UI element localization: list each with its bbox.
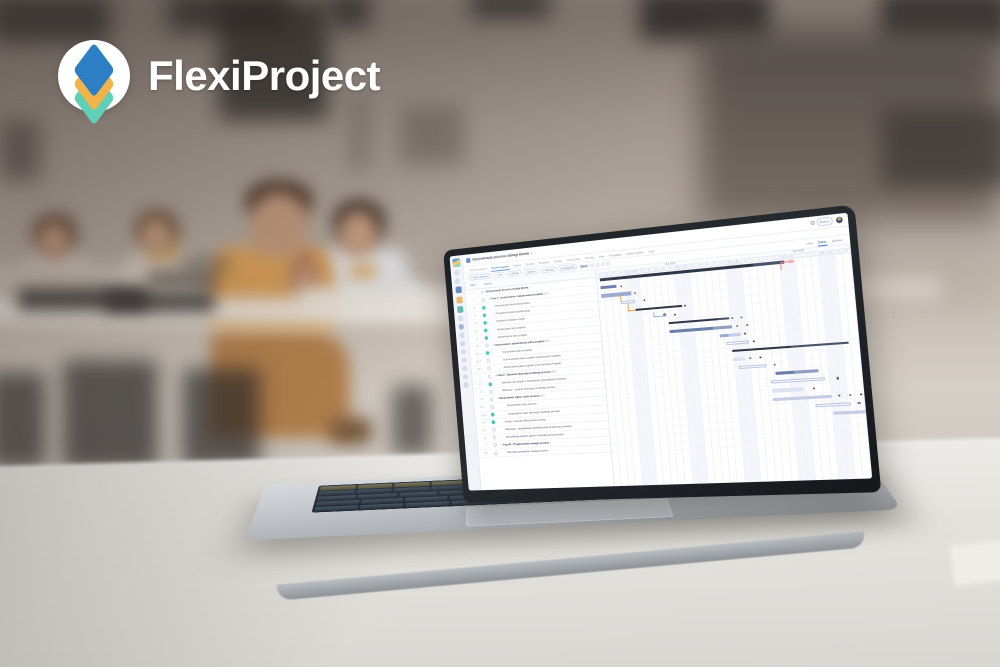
desk-item xyxy=(148,272,218,286)
flexiproject-app: Optymalizacja procesu obsługi klienta ▾ … xyxy=(450,213,873,491)
sidebar-item-projects[interactable] xyxy=(455,286,461,293)
gantt-bar-summary[interactable] xyxy=(668,317,728,325)
settings-button[interactable]: ✻ Ustawienia xyxy=(557,264,578,272)
wall-panel xyxy=(400,105,464,165)
row-wbs: 3.1 xyxy=(479,452,495,456)
zoom-out-icon[interactable] xyxy=(595,263,599,267)
avatar[interactable] xyxy=(751,339,756,344)
brand-lockup: FlexiProject xyxy=(58,40,380,112)
stacked-layers-icon xyxy=(58,40,130,112)
export-button[interactable]: ⤓ Eksport xyxy=(523,268,539,276)
sidebar-item-resources[interactable] xyxy=(457,306,463,313)
view-mode-kanban[interactable]: Kanban xyxy=(830,238,845,244)
row-wbs: 1.2 xyxy=(467,314,483,318)
row-name: Warsztaty projektowe nowego procesu xyxy=(498,447,611,455)
row-wbs: 1.6.3 xyxy=(472,367,488,371)
row-wbs: 2.3.2 xyxy=(475,413,491,417)
avatar[interactable] xyxy=(837,393,842,398)
row-wbs: 3 xyxy=(478,444,494,448)
tab-budzet[interactable]: Budżet xyxy=(511,260,524,269)
sidebar-item-settings[interactable] xyxy=(463,374,468,379)
row-count: (1) 4 xyxy=(544,292,549,295)
export-label: Eksport xyxy=(527,270,535,274)
sidebar-item-risk[interactable] xyxy=(460,341,465,347)
row-wbs: 2.3.1 xyxy=(475,406,491,410)
row-wbs: 2.4 xyxy=(476,421,492,425)
task-grid[interactable]: WBS Nazwa Optymalizacja procesu obsługi … xyxy=(465,270,615,490)
avatar[interactable] xyxy=(619,284,623,288)
tab-czat[interactable]: Czat xyxy=(645,246,656,255)
avatar[interactable] xyxy=(811,386,816,391)
avatar[interactable] xyxy=(859,392,864,397)
avatar[interactable] xyxy=(734,323,739,328)
row-count: (1) 3 xyxy=(545,339,550,342)
wall-panel xyxy=(330,0,370,28)
avatar[interactable] xyxy=(758,355,763,360)
brand-name: FlexiProject xyxy=(148,52,380,100)
row-wbs: 1.6 xyxy=(470,344,486,348)
avatar[interactable] xyxy=(835,215,844,224)
row-wbs: 2.6 xyxy=(477,436,493,440)
gantt-bar[interactable] xyxy=(732,357,745,361)
row-wbs: 2.3 xyxy=(474,398,490,402)
grid-rows: Optymalizacja procesu obsługi klienta 1 … xyxy=(465,278,614,490)
star-icon[interactable]: ☆ xyxy=(534,251,537,255)
row-wbs: 2.2 xyxy=(473,390,489,394)
avatar[interactable] xyxy=(743,331,748,336)
laptop-screen: Optymalizacja procesu obsługi klienta ▾ … xyxy=(450,213,873,491)
sidebar-item-docs[interactable] xyxy=(462,366,467,371)
desk-item xyxy=(178,258,230,270)
avatar[interactable] xyxy=(642,298,646,303)
zoom-in-icon[interactable] xyxy=(590,263,594,267)
tab-produkty[interactable]: Produkty xyxy=(536,257,552,266)
row-wbs: 1.4 xyxy=(468,329,484,333)
sidebar-item-reports[interactable] xyxy=(458,316,463,322)
gantt-bar-summary[interactable] xyxy=(732,342,849,353)
avatar[interactable] xyxy=(857,400,862,405)
history-button[interactable]: ↺ Historia xyxy=(539,266,556,274)
tab-ryzyka[interactable]: Ryzyka xyxy=(523,259,537,268)
avatar[interactable] xyxy=(772,363,777,368)
project-icon xyxy=(466,258,471,263)
gantt-bar[interactable] xyxy=(738,364,767,369)
desk-item xyxy=(105,292,215,312)
sidebar-item-support[interactable] xyxy=(464,382,469,387)
gantt-bar[interactable] xyxy=(816,402,852,407)
chevron-down-icon[interactable]: ▾ xyxy=(531,251,533,255)
sidebar-item-portfolio[interactable] xyxy=(456,296,462,303)
student-head xyxy=(140,218,172,256)
avatar[interactable] xyxy=(748,356,753,361)
views-label: Widoki xyxy=(512,271,519,275)
row-wbs: 1.3 xyxy=(468,322,484,326)
sidebar-item-budget[interactable] xyxy=(461,349,466,355)
avatar[interactable] xyxy=(848,392,853,397)
wall-panel xyxy=(0,0,110,42)
view-mode-gantt[interactable]: Gantt xyxy=(816,239,828,244)
row-wbs: 1.5 xyxy=(469,337,485,341)
gantt-bar[interactable] xyxy=(772,394,831,401)
gantt-bar[interactable] xyxy=(726,340,749,345)
app-main: Optymalizacja procesu obsługi klienta ▾ … xyxy=(462,213,872,491)
tab-zasoby[interactable]: Zasoby xyxy=(551,256,565,265)
view-mode-lista[interactable]: Lista xyxy=(804,241,815,246)
wall-panel xyxy=(0,120,40,180)
classroom-chair xyxy=(182,368,260,468)
wall-panel xyxy=(470,0,550,18)
sidebar-item-dashboard[interactable] xyxy=(454,270,459,276)
laptop-front-edge xyxy=(276,531,865,600)
classroom-chair xyxy=(62,360,158,470)
avatar[interactable] xyxy=(835,376,840,381)
avatar[interactable] xyxy=(633,291,637,296)
gantt-body xyxy=(597,253,872,486)
gantt-bar-summary[interactable] xyxy=(635,304,682,311)
gantt-bar[interactable] xyxy=(771,378,825,385)
row-label: Faza III - Projektowanie nowego procesu xyxy=(503,442,549,447)
row-wbs xyxy=(465,292,480,293)
chevron-down-icon: ▾ xyxy=(488,274,489,277)
sidebar-item-home[interactable] xyxy=(455,278,460,284)
fit-screen-icon[interactable] xyxy=(601,262,605,266)
row-wbs: 1.6.2 xyxy=(471,360,487,364)
history-label: Historia xyxy=(545,268,553,272)
gantt-bar[interactable] xyxy=(669,325,732,333)
gantt-bar[interactable] xyxy=(720,332,741,337)
student-head xyxy=(38,222,70,260)
row-count: (1) 2 xyxy=(540,395,545,398)
dependency-link xyxy=(653,311,666,317)
avatar[interactable] xyxy=(683,303,687,308)
filter-button[interactable]: ▽ Filtr xyxy=(493,271,505,278)
gantt-bar[interactable] xyxy=(775,369,818,375)
more-dots-icon[interactable]: ⋯ xyxy=(538,250,541,254)
row-wbs: 1.1 xyxy=(467,306,483,310)
row-wbs: 1 xyxy=(466,299,482,303)
column-header-wbs: WBS xyxy=(465,283,481,287)
views-button[interactable]: ▤ Widoki xyxy=(506,269,522,277)
avatar[interactable] xyxy=(730,315,735,320)
critical-path-icon[interactable] xyxy=(606,262,610,266)
sidebar-item-filter[interactable] xyxy=(459,332,464,338)
settings-label: Ustawienia xyxy=(563,266,575,270)
sidebar-item-team[interactable] xyxy=(461,357,466,363)
help-button[interactable]: Pomoc xyxy=(816,217,833,226)
row-wbs: 2.5 xyxy=(477,429,493,433)
row-count: (1) 4 xyxy=(552,370,557,373)
bell-icon[interactable] xyxy=(810,221,815,226)
wall-panel xyxy=(882,108,1000,186)
classroom-chair xyxy=(0,372,46,468)
gantt-bars xyxy=(597,253,872,486)
gantt-bar[interactable] xyxy=(833,410,866,415)
gantt-chart[interactable]: Sie 2025 Wrz 2025 1112131415161718192021… xyxy=(596,244,872,486)
tab-scoring[interactable]: Scoring xyxy=(582,253,597,262)
avatar[interactable] xyxy=(745,323,750,328)
row-wbs: 1.6.1 xyxy=(470,352,486,356)
tab-plan[interactable]: Plan xyxy=(596,252,607,261)
avatar[interactable] xyxy=(739,315,744,320)
laptop-lid: Optymalizacja procesu obsługi klienta ▾ … xyxy=(443,204,881,503)
sidebar-item-schedule[interactable] xyxy=(459,324,464,330)
gantt-bar[interactable] xyxy=(600,285,617,290)
row-label: Opracowanie mapy i opisu procesu xyxy=(499,395,539,400)
row-wbs: 2.1 xyxy=(473,383,489,387)
schedule-workarea: WBS Nazwa Optymalizacja procesu obsługi … xyxy=(465,244,873,490)
gantt-bar[interactable] xyxy=(772,387,804,392)
avatar[interactable] xyxy=(673,312,677,317)
filter-label: Filtr xyxy=(498,273,502,276)
row-wbs: 2 xyxy=(472,375,488,379)
sidebar-logo-icon[interactable] xyxy=(452,258,460,267)
zoom-level-chip[interactable]: Dzień xyxy=(579,263,589,268)
new-task-label: Nowe zadanie xyxy=(473,275,488,279)
paper-sheet xyxy=(950,538,1000,586)
laptop-device: Optymalizacja procesu obsługi klienta ▾ … xyxy=(262,228,882,628)
